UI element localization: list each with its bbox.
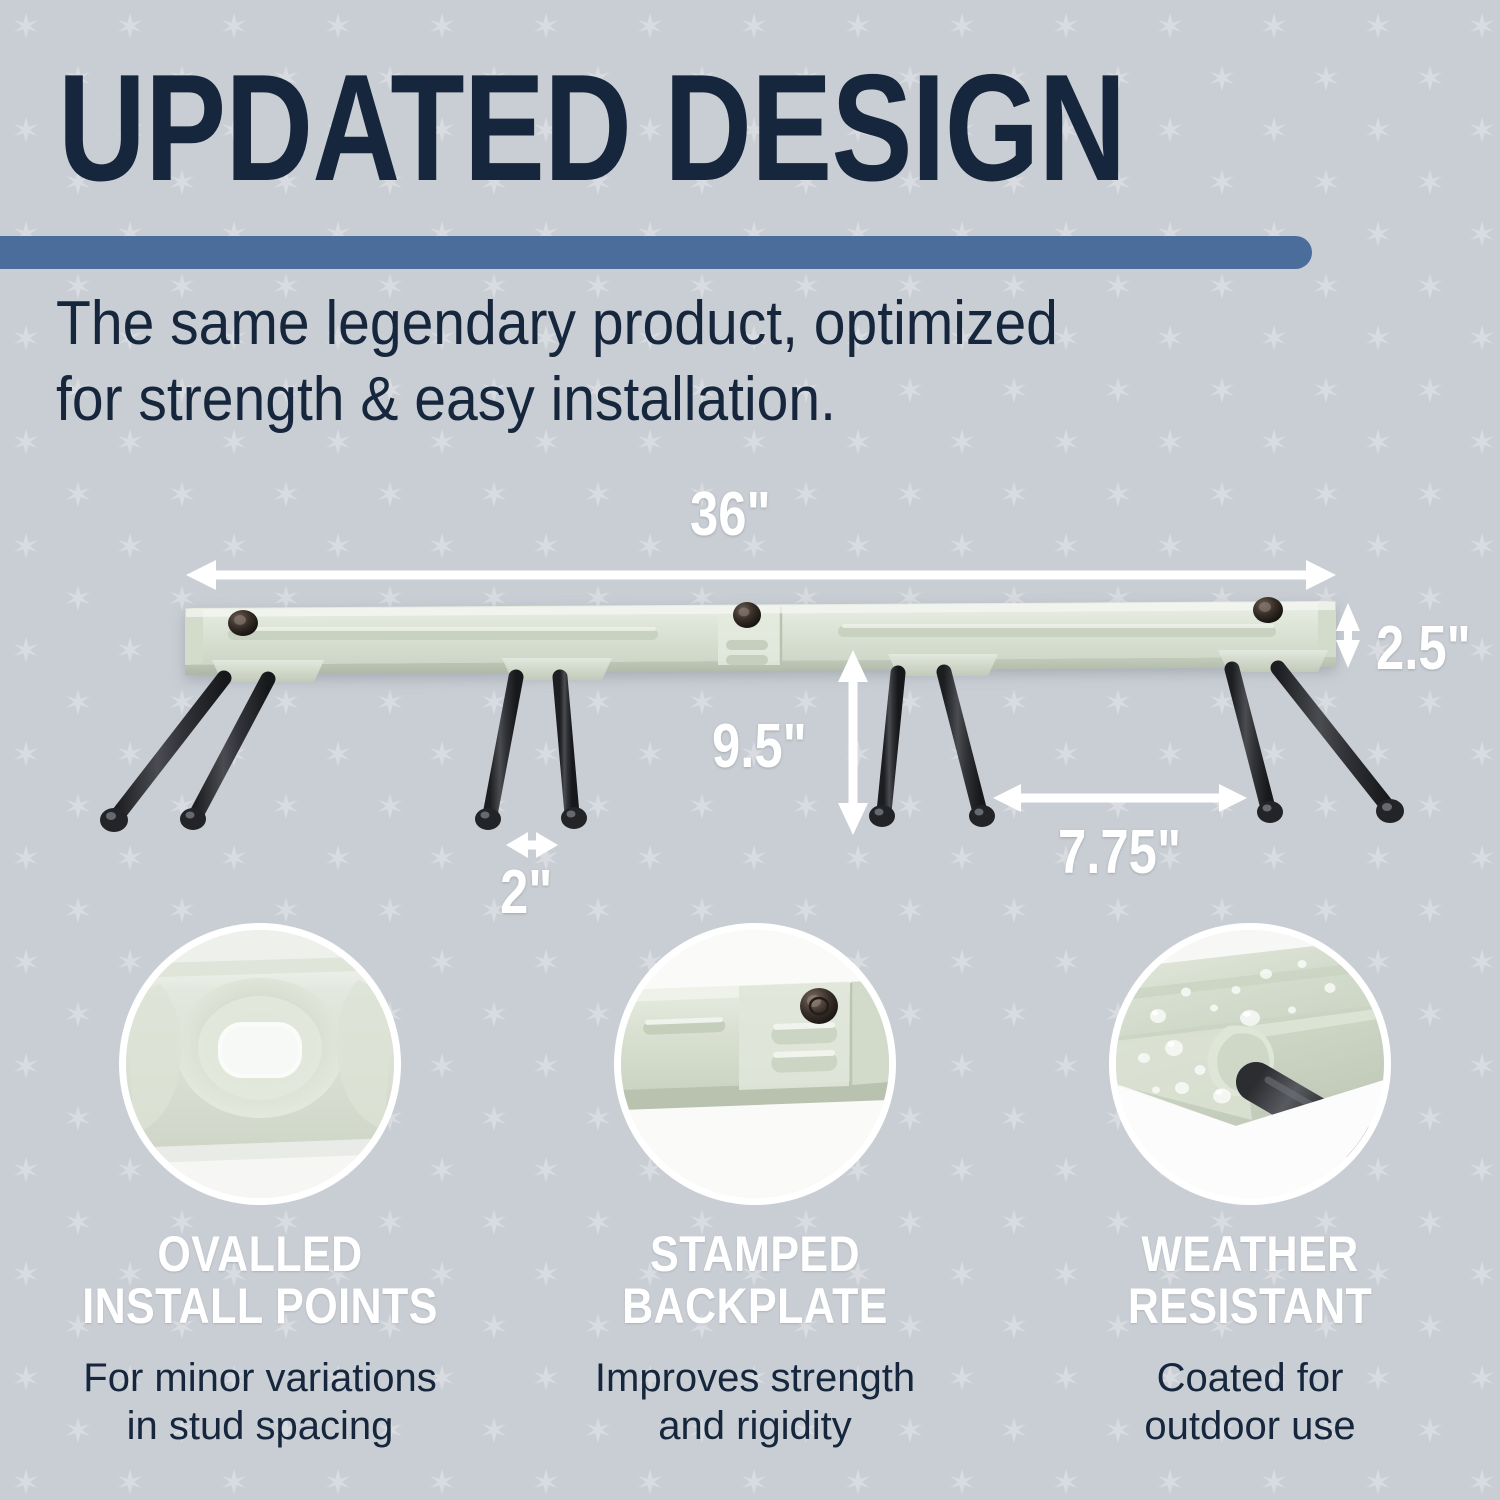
dimension-label-plate-height: 2.5"	[1376, 618, 1471, 680]
page-title: UPDATED DESIGN	[58, 52, 1098, 207]
subtitle-line-2: for strength & easy installation.	[56, 362, 1307, 438]
dimension-label-pair-spacing: 7.75"	[1058, 822, 1181, 884]
feature-caption-line-1: Coated for	[1000, 1354, 1500, 1402]
feature-caption-line-1: For minor variations	[10, 1354, 510, 1402]
feature-caption-line-2: outdoor use	[1000, 1402, 1500, 1450]
feature-title-line-2: INSTALL POINTS	[45, 1280, 475, 1332]
feature-caption: Improves strength and rigidity	[505, 1354, 1005, 1450]
feature-title-line-2: RESISTANT	[1035, 1280, 1465, 1332]
dimension-arrow-plate-height	[1336, 603, 1360, 668]
subtitle: The same legendary product, optimized fo…	[56, 286, 1307, 438]
dimension-arrow-length	[186, 560, 1336, 590]
feature-card-stamped-backplate: STAMPED BACKPLATE Improves strength and …	[505, 930, 1005, 1450]
feature-caption: Coated for outdoor use	[1000, 1354, 1500, 1450]
feature-title-line-1: STAMPED	[540, 1228, 970, 1280]
feature-caption: For minor variations in stud spacing	[10, 1354, 510, 1450]
dimension-arrow-arm-depth	[838, 650, 868, 835]
feature-caption-line-2: in stud spacing	[10, 1402, 510, 1450]
feature-row: OVALLED INSTALL POINTS For minor variati…	[0, 930, 1500, 1490]
water-droplets-closeup-icon	[1116, 930, 1384, 1198]
product-infographic: UPDATED DESIGN The same legendary produc…	[0, 0, 1500, 1500]
feature-title-line-1: OVALLED	[45, 1228, 475, 1280]
arm-end-caps	[100, 799, 1404, 832]
feature-title-line-2: BACKPLATE	[540, 1280, 970, 1332]
feature-card-weather-resistant: WEATHER RESISTANT Coated for outdoor use	[1000, 930, 1500, 1450]
feature-caption-line-1: Improves strength	[505, 1354, 1005, 1402]
feature-caption-line-2: and rigidity	[505, 1402, 1005, 1450]
feature-title: WEATHER RESISTANT	[1000, 1228, 1500, 1332]
dimension-label-arm-gap: 2"	[500, 862, 552, 924]
feature-title: OVALLED INSTALL POINTS	[10, 1228, 510, 1332]
dimension-label-arm-depth: 9.5"	[712, 716, 807, 778]
dimension-label-length: 36"	[690, 484, 771, 546]
accent-divider	[0, 236, 1312, 269]
dimension-arrow-arm-gap	[506, 832, 558, 858]
subtitle-line-1: The same legendary product, optimized	[56, 286, 1307, 362]
feature-title: STAMPED BACKPLATE	[505, 1228, 1005, 1332]
feature-card-ovalled-install-points: OVALLED INSTALL POINTS For minor variati…	[10, 930, 510, 1450]
dimension-arrow-pair-spacing	[993, 784, 1247, 812]
stamped-backplate-closeup-icon	[621, 930, 889, 1198]
feature-title-line-1: WEATHER	[1035, 1228, 1465, 1280]
ovalled-slot-closeup-icon	[126, 930, 394, 1198]
